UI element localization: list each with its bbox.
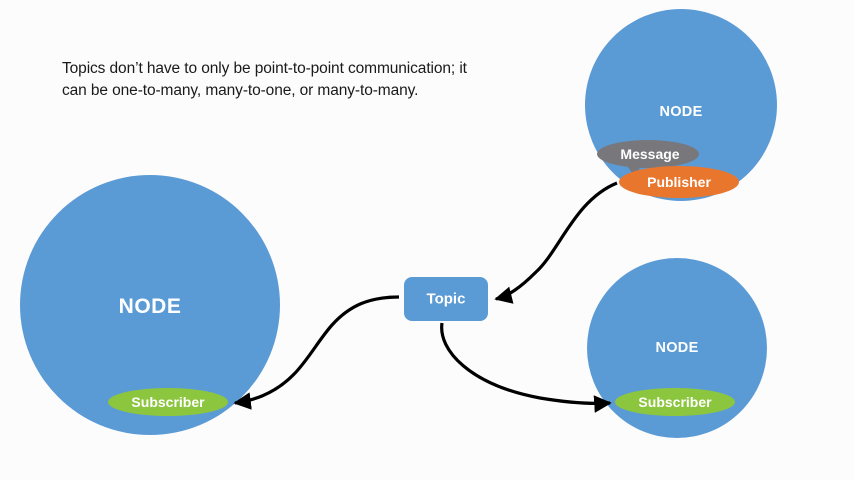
subscriber-left-ellipse[interactable]	[108, 388, 228, 416]
diagram-vector-layer	[0, 0, 854, 480]
publisher-ellipse[interactable]	[619, 166, 739, 198]
topic-box-rect[interactable]	[404, 277, 488, 321]
slide-canvas: Topics don’t have to only be point-to-po…	[0, 0, 854, 480]
arrow-publisher-to-topic	[496, 183, 617, 299]
arrow-topic-to-subscriber-right	[442, 323, 610, 403]
message-ellipse[interactable]	[597, 140, 699, 168]
subscriber-right-ellipse[interactable]	[615, 388, 735, 416]
